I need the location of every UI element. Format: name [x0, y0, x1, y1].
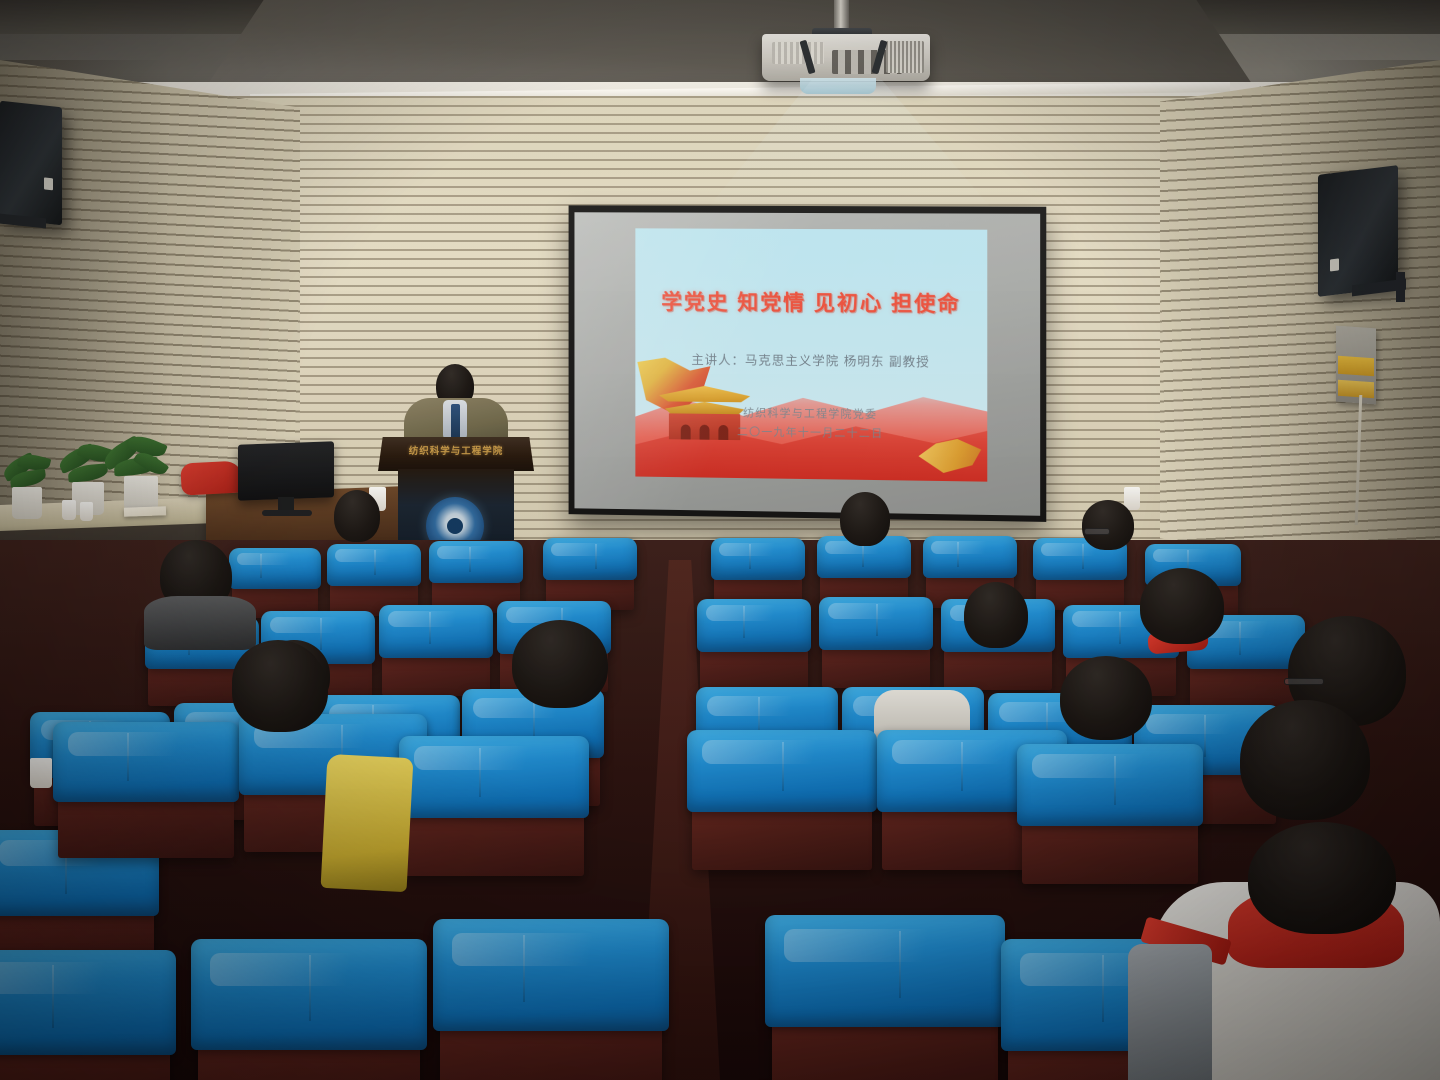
- audience-member: [232, 644, 328, 732]
- seat-cover: [923, 536, 1016, 578]
- seat: [700, 604, 808, 690]
- notice-yellow-panel-2: [1338, 380, 1374, 399]
- speaker-led-icon: [44, 177, 53, 190]
- backpack: [1128, 944, 1212, 1080]
- seat: [822, 602, 930, 688]
- person-head: [1248, 822, 1396, 934]
- plant-pot: [12, 487, 42, 519]
- seat-cover: [765, 915, 1005, 1027]
- stacked-papers: [124, 506, 166, 516]
- projected-slide: 学党史 知党情 见初心 担使命 主讲人：马克思主义学院 杨明东 副教授 纺织科学…: [635, 228, 987, 481]
- person-head: [232, 644, 328, 732]
- paper-cup: [30, 758, 52, 788]
- podium: 纺织科学与工程学院: [378, 437, 534, 555]
- audience-member: [150, 540, 246, 632]
- wall-notice-box: [1336, 326, 1376, 405]
- audience-member: [512, 620, 608, 708]
- person-head: [512, 620, 608, 708]
- yellow-coat: [321, 754, 414, 892]
- speaker-led-icon: [1330, 258, 1339, 271]
- person-head: [334, 490, 380, 542]
- seat: [772, 926, 998, 1080]
- glasses-icon: [1284, 678, 1324, 685]
- podium-top: 纺织科学与工程学院: [378, 437, 534, 471]
- person-head: [964, 582, 1028, 648]
- person-head: [840, 492, 890, 546]
- seat: [692, 738, 872, 870]
- red-jacket: [180, 460, 244, 495]
- notice-yellow-panel: [1338, 356, 1374, 377]
- seat-cover: [0, 950, 176, 1055]
- seat: [382, 610, 490, 696]
- seat-cover: [379, 605, 493, 658]
- projector-lens-icon: [800, 78, 876, 94]
- seat-cover: [399, 736, 590, 818]
- seat: [0, 960, 170, 1080]
- slide-presenter-line: 主讲人：马克思主义学院 杨明东 副教授: [635, 348, 987, 370]
- projector-vent: [886, 41, 924, 73]
- slide-title: 学党史 知党情 见初心 担使命: [635, 286, 987, 318]
- seat: [1022, 752, 1198, 884]
- seat: [546, 542, 634, 610]
- audience-member: [1082, 500, 1134, 550]
- presenter-tie: [451, 404, 460, 440]
- podium-label: 纺织科学与工程学院: [378, 443, 534, 457]
- seat-cover: [191, 939, 426, 1049]
- desktop-monitor: [238, 441, 334, 500]
- seat-cover: [327, 544, 420, 586]
- seat: [404, 744, 584, 876]
- person-head: [1082, 500, 1134, 550]
- seat: [198, 950, 420, 1080]
- seat: [440, 930, 662, 1080]
- plant-pot: [124, 476, 158, 510]
- audience-member: [1248, 822, 1396, 934]
- projection-screen: 学党史 知党情 见初心 担使命 主讲人：马克思主义学院 杨明东 副教授 纺织科学…: [569, 205, 1047, 522]
- speaker-arm-right: [1396, 272, 1405, 302]
- seat-cover: [711, 538, 804, 580]
- gate-roof: [659, 385, 750, 402]
- audience-member: [334, 490, 380, 542]
- screen-surface: 学党史 知党情 见初心 担使命 主讲人：马克思主义学院 杨明东 副教授 纺织科学…: [574, 212, 1040, 516]
- paper-cup: [80, 502, 93, 521]
- ceiling-projector-icon: [762, 34, 930, 81]
- seat-cover: [1017, 744, 1204, 826]
- person-head: [1240, 700, 1370, 820]
- monitor-base: [262, 510, 312, 516]
- audience-member: [964, 582, 1028, 648]
- audience-member: [1060, 656, 1152, 740]
- audience-member: [840, 492, 890, 546]
- seat-cover: [53, 722, 240, 801]
- audience-member: [1240, 700, 1370, 820]
- seat-cover: [543, 538, 636, 580]
- audience-member: [1140, 568, 1224, 644]
- seat: [58, 730, 234, 858]
- wall-speaker-right: [1318, 165, 1398, 297]
- person-head: [1140, 568, 1224, 644]
- wall-speaker-left: [0, 101, 62, 226]
- person-head: [1060, 656, 1152, 740]
- seat-cover: [819, 597, 933, 650]
- seat-cover: [429, 541, 522, 583]
- seat-cover: [697, 599, 811, 652]
- seat-cover: [433, 919, 668, 1031]
- seat-cover: [687, 730, 878, 812]
- projector-grill: [772, 42, 824, 64]
- paper-cup: [62, 500, 76, 520]
- lecture-hall-photo: 学党史 知党情 见初心 担使命 主讲人：马克思主义学院 杨明东 副教授 纺织科学…: [0, 0, 1440, 1080]
- glasses-icon: [1084, 528, 1110, 535]
